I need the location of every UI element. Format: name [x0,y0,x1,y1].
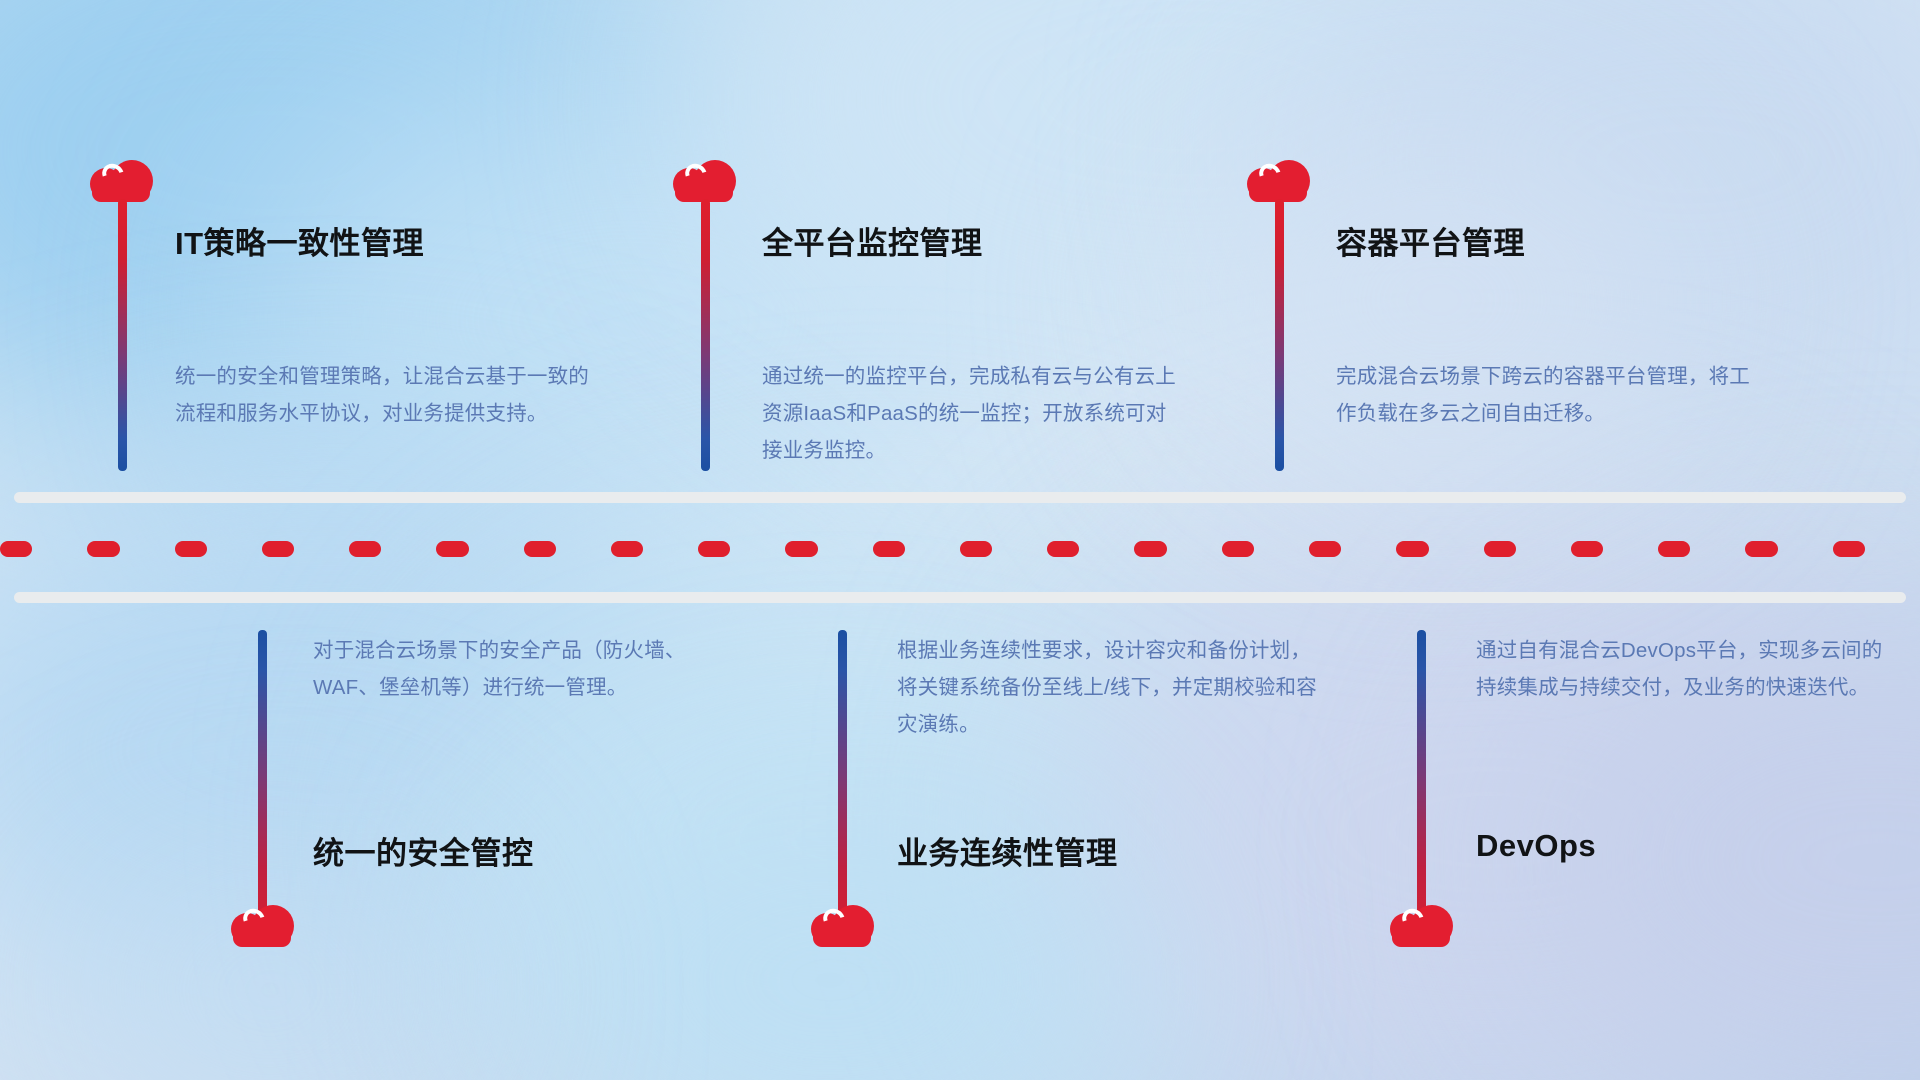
infographic: IT策略一致性管理 统一的安全和管理策略，让混合云基于一致的流程和服务水平协议，… [0,0,1920,1080]
item-title: DevOps [1476,828,1596,864]
cloud-base [233,930,291,947]
item-title: 业务连续性管理 [897,828,1118,873]
item-title: 统一的安全管控 [313,828,534,873]
item-description: 通过自有混合云DevOps平台，实现多云间的持续集成与持续交付，及业务的快速迭代… [1476,632,1896,706]
cloud-icon [90,158,154,204]
item-description: 统一的安全和管理策略，让混合云基于一致的流程和服务水平协议，对业务提供支持。 [175,358,595,432]
divider-dash [1134,541,1166,557]
cloud-icon [1247,158,1311,204]
divider-dash [1222,541,1254,557]
divider-dash [1309,541,1341,557]
cloud-base [813,930,871,947]
connector-line [838,630,847,920]
divider-dash [1833,541,1865,557]
item-title: 容器平台管理 [1336,218,1525,263]
divider-rule-bottom [14,592,1906,603]
divider-dash [1047,541,1079,557]
divider-dash [1658,541,1690,557]
divider-dash [0,541,32,557]
connector-line [118,199,127,471]
divider-dash [1571,541,1603,557]
divider-dash [960,541,992,557]
divider-dash [1484,541,1516,557]
cloud-icon [673,158,737,204]
item-description: 根据业务连续性要求，设计容灾和备份计划，将关键系统备份至线上/线下，并定期校验和… [897,632,1317,743]
divider-dash [873,541,905,557]
divider-dash [1745,541,1777,557]
item-description: 通过统一的监控平台，完成私有云与公有云上资源IaaS和PaaS的统一监控；开放系… [762,358,1182,469]
divider-dash [87,541,119,557]
divider-dash [262,541,294,557]
connector-line [258,630,267,920]
connector-line [1417,630,1426,920]
divider-rule-top [14,492,1906,503]
item-title: IT策略一致性管理 [175,218,424,263]
cloud-icon [811,903,875,949]
item-description: 对于混合云场景下的安全产品（防火墙、WAF、堡垒机等）进行统一管理。 [313,632,733,706]
cloud-icon [231,903,295,949]
divider-dash [611,541,643,557]
cloud-icon [1390,903,1454,949]
item-description: 完成混合云场景下跨云的容器平台管理，将工作负载在多云之间自由迁移。 [1336,358,1756,432]
dashed-center-line [0,541,1920,557]
divider-dash [524,541,556,557]
divider-dash [1396,541,1428,557]
divider-dash [785,541,817,557]
divider-dash [436,541,468,557]
divider-dash [698,541,730,557]
connector-line [1275,199,1284,471]
cloud-base [1392,930,1450,947]
item-title: 全平台监控管理 [762,218,983,263]
connector-line [701,199,710,471]
divider-dash [175,541,207,557]
divider-dash [349,541,381,557]
